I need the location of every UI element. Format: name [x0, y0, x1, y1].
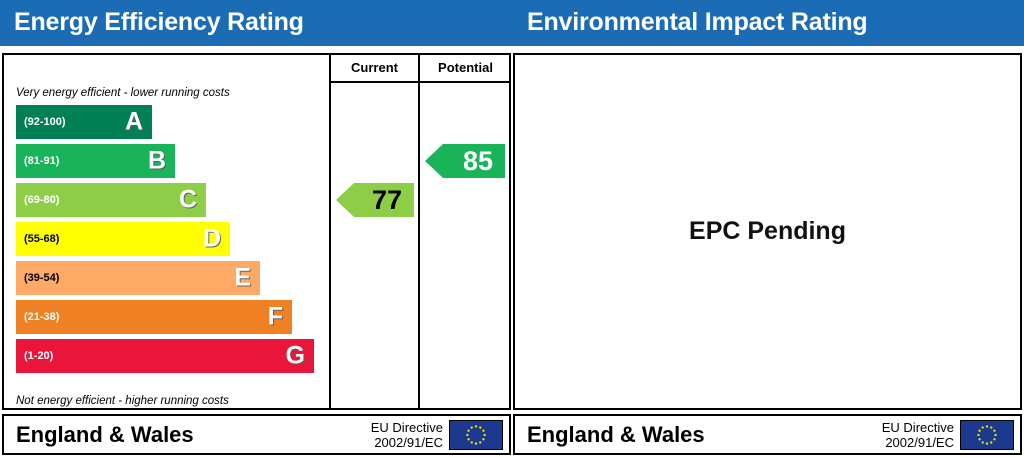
scale-note-top: Very energy efficient - lower running co… — [16, 87, 230, 99]
rating-band-b: (81-91)B — [16, 144, 175, 178]
energy-efficiency-chart-panel: Current Potential Very energy efficient … — [2, 53, 511, 410]
column-divider-current — [329, 55, 331, 408]
column-divider-potential — [418, 55, 420, 408]
footer-left: England & Wales EU Directive 2002/91/EC — [2, 414, 511, 455]
column-header-potential: Potential — [420, 60, 511, 75]
rating-band-e: (39-54)E — [16, 261, 260, 295]
environmental-impact-rating-title: Environmental Impact Rating — [527, 8, 868, 37]
rating-band-a: (92-100)A — [16, 105, 152, 139]
epc-chart-image: Energy Efficiency Rating Environmental I… — [0, 0, 1024, 457]
directive-line-1: EU Directive — [371, 420, 443, 435]
footer-right: England & Wales EU Directive 2002/91/EC — [513, 414, 1022, 455]
rating-band-d: (55-68)D — [16, 222, 230, 256]
band-range-label: (92-100) — [24, 116, 66, 128]
rating-band-c: (69-80)C — [16, 183, 206, 217]
rating-band-f: (21-38)F — [16, 300, 292, 334]
scale-note-bottom: Not energy efficient - higher running co… — [16, 395, 229, 407]
eu-flag-icon-left — [449, 420, 503, 450]
band-letter: C — [179, 186, 197, 215]
band-range-label: (81-91) — [24, 155, 59, 167]
band-range-label: (21-38) — [24, 311, 59, 323]
band-range-label: (39-54) — [24, 272, 59, 284]
footer-directive-left: EU Directive 2002/91/EC — [371, 420, 443, 450]
rating-arrow-potential: 85 — [425, 144, 505, 178]
band-range-label: (69-80) — [24, 194, 59, 206]
directive-line-2: 2002/91/EC — [371, 435, 443, 450]
footer-region-label-right: England & Wales — [527, 422, 705, 448]
band-letter: D — [203, 225, 221, 254]
band-letter: A — [125, 108, 143, 137]
column-header-divider — [329, 81, 511, 83]
rating-band-g: (1-20)G — [16, 339, 314, 373]
directive-line-2: 2002/91/EC — [882, 435, 954, 450]
environmental-impact-panel: EPC Pending — [513, 53, 1022, 410]
eu-flag-icon-right — [960, 420, 1014, 450]
directive-line-1: EU Directive — [882, 420, 954, 435]
band-range-label: (55-68) — [24, 233, 59, 245]
footer-directive-right: EU Directive 2002/91/EC — [882, 420, 954, 450]
column-header-current: Current — [331, 60, 418, 75]
band-letter: G — [286, 342, 305, 371]
band-letter: E — [234, 264, 251, 293]
band-letter: F — [268, 303, 283, 332]
rating-arrow-current: 77 — [336, 183, 414, 217]
energy-efficiency-rating-title: Energy Efficiency Rating — [14, 8, 304, 37]
footer-region-label-left: England & Wales — [16, 422, 194, 448]
band-range-label: (1-20) — [24, 350, 53, 362]
band-letter: B — [148, 147, 166, 176]
epc-pending-message: EPC Pending — [515, 55, 1020, 408]
